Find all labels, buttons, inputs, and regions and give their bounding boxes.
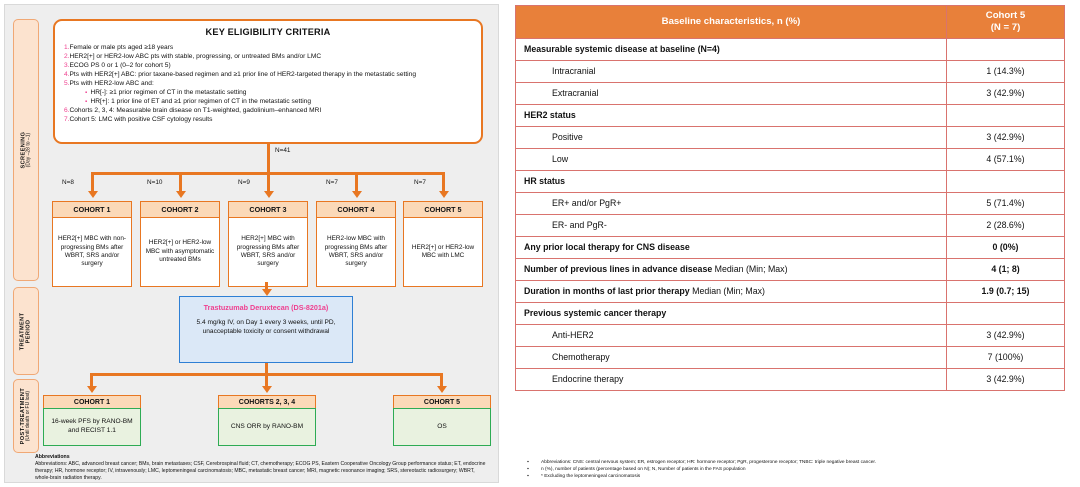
enrollment-total-label: N=41 (275, 147, 290, 154)
key-eligibility-criteria-box: KEY ELIGIBILITY CRITERIA 1.Female or mal… (53, 19, 483, 144)
header-cohort-5-line2: (N = 7) (951, 22, 1060, 34)
footnote-text: Abbreviations: CNS: central nervous syst… (541, 459, 1065, 466)
eligibility-subitem: HR[-]: ≥1 prior regimen of CT in the met… (90, 89, 246, 96)
cohort-title: COHORT 2 (140, 201, 220, 217)
eligibility-subitem: HR[+]: 1 prior line of ET and ≥1 prior r… (90, 98, 311, 105)
arrow-cohort-3 (264, 191, 274, 198)
treatment-drug-name: Trastuzumab Deruxtecan (DS-8201a) (186, 303, 346, 312)
table-row: Low4 (57.1%) (516, 148, 1065, 170)
cohort-description: HER2[+] or HER2-low MBC with asymptomati… (140, 217, 220, 287)
row-label: HER2 status (516, 104, 947, 126)
header-baseline-characteristics: Baseline characteristics, n (%) (516, 6, 947, 39)
outcome-title: COHORT 5 (393, 395, 491, 408)
eligibility-item: Cohort 5: LMC with positive CSF cytology… (70, 116, 213, 123)
cohort-title: COHORT 5 (403, 201, 483, 217)
table-row: Anti-HER23 (42.9%) (516, 324, 1065, 346)
table-row: Number of previous lines in advance dise… (516, 258, 1065, 280)
row-label: ER- and PgR- (516, 214, 947, 236)
footnote-bullet-icon: ▪ (515, 473, 541, 480)
connector-drop-cohort-5 (442, 172, 445, 192)
cohort-description: HER2[+] MBC with progressing BMs after W… (228, 217, 308, 287)
cohort-title: COHORT 3 (228, 201, 308, 217)
cohort-description: HER2-low MBC with progressing BMs after … (316, 217, 396, 287)
row-label: Anti-HER2 (516, 324, 947, 346)
cohort-title: COHORT 4 (316, 201, 396, 217)
footnote-item: ▪n (%), number of patients (percentage b… (515, 466, 1065, 473)
row-value (947, 38, 1065, 60)
arrow-treatment (262, 289, 272, 296)
cohort-n-label-4: N=7 (326, 179, 338, 186)
arrow-outcome-3 (437, 386, 447, 393)
row-value: 1.9 (0.7; 15) (947, 280, 1065, 302)
table-row: Chemotherapy7 (100%) (516, 346, 1065, 368)
outcome-description: CNS ORR by RANO-BM (218, 408, 316, 446)
cohort-box-1[interactable]: COHORT 1 HER2[+] MBC with non-progressin… (52, 201, 132, 287)
table-row: Any prior local therapy for CNS disease0… (516, 236, 1065, 258)
outcome-box-cohort-1[interactable]: COHORT 1 16-week PFS by RANO-BM and RECI… (43, 395, 141, 446)
eligibility-item: ECOG PS 0 or 1 (0–2 for cohort 5) (70, 62, 171, 69)
row-label: Duration in months of last prior therapy… (516, 280, 947, 302)
row-label-suffix: Median (Min; Max) (690, 286, 765, 296)
row-label: Number of previous lines in advance dise… (516, 258, 947, 280)
connector-elig-to-bus (267, 144, 270, 173)
cohort-box-2[interactable]: COHORT 2 HER2[+] or HER2-low MBC with as… (140, 201, 220, 287)
header-cohort-5: Cohort 5 (N = 7) (947, 6, 1065, 39)
row-value (947, 170, 1065, 192)
phase-rail-treatment: TREATMENT PERIOD (13, 287, 39, 375)
row-label: ER+ and/or PgR+ (516, 192, 947, 214)
treatment-regimen: 5.4 mg/kg IV, on Day 1 every 3 weeks, un… (186, 319, 346, 337)
outcome-description: OS (393, 408, 491, 446)
row-label: Endocrine therapy (516, 368, 947, 390)
phase-rail-post-treatment: POST-TREATMENT (Until death or FU lost) (13, 379, 39, 453)
outcome-box-cohorts-234[interactable]: COHORTS 2, 3, 4 CNS ORR by RANO-BM (218, 395, 316, 446)
arrow-cohort-1 (88, 191, 98, 198)
study-design-diagram: SCREENING (Day –28 to –1) TREATMENT PERI… (4, 4, 499, 483)
row-value: 7 (100%) (947, 346, 1065, 368)
abbreviations-heading: Abbreviations (35, 454, 490, 460)
table-row: Previous systemic cancer therapy (516, 302, 1065, 324)
table-row: Extracranial3 (42.9%) (516, 82, 1065, 104)
connector-drop-cohort-4 (355, 172, 358, 192)
eligibility-item: HER2[+] or HER2-low ABC pts with stable,… (70, 53, 322, 60)
row-label: Positive (516, 126, 947, 148)
table-row: Intracranial1 (14.3%) (516, 60, 1065, 82)
table-row: Measurable systemic disease at baseline … (516, 38, 1065, 60)
row-label: Any prior local therapy for CNS disease (516, 236, 947, 258)
cohort-title: COHORT 1 (52, 201, 132, 217)
abbreviations-text: Abbreviations: ABC, advanced breast canc… (35, 461, 490, 483)
row-value: 0 (0%) (947, 236, 1065, 258)
table-row: HR status (516, 170, 1065, 192)
row-label: Measurable systemic disease at baseline … (516, 38, 947, 60)
eligibility-item: Female or male pts aged ≥18 years (70, 44, 174, 51)
cohort-n-label-2: N=10 (147, 179, 162, 186)
cohort-box-5[interactable]: COHORT 5 HER2[+] or HER2-low MBC with LM… (403, 201, 483, 287)
footnote-text: * Excluding the leptomeningeal carcinoma… (541, 473, 1065, 480)
baseline-characteristics-table-wrap: Baseline characteristics, n (%) Cohort 5… (515, 5, 1065, 391)
connector-drop-outcome-1 (90, 373, 93, 387)
table-row: HER2 status (516, 104, 1065, 126)
cohort-description: HER2[+] MBC with non-progressing BMs aft… (52, 217, 132, 287)
slide-root: SCREENING (Day –28 to –1) TREATMENT PERI… (0, 0, 1080, 487)
connector-drop-cohort-1 (91, 172, 94, 192)
connector-drop-outcome-3 (440, 373, 443, 387)
cohort-n-label-1: N=8 (62, 179, 74, 186)
header-cohort-5-line1: Cohort 5 (951, 10, 1060, 22)
row-value: 5 (71.4%) (947, 192, 1065, 214)
footnote-item: ▪* Excluding the leptomeningeal carcinom… (515, 473, 1065, 480)
footnote-bullet-icon: ▪ (515, 459, 541, 466)
row-label: Intracranial (516, 60, 947, 82)
table-row: Duration in months of last prior therapy… (516, 280, 1065, 302)
cohort-box-3[interactable]: COHORT 3 HER2[+] MBC with progressing BM… (228, 201, 308, 287)
arrow-cohort-4 (352, 191, 362, 198)
eligibility-item: Pts with HER2[+] ABC: prior taxane-based… (70, 71, 416, 78)
arrow-cohort-5 (439, 191, 449, 198)
treatment-box[interactable]: Trastuzumab Deruxtecan (DS-8201a) 5.4 mg… (179, 296, 353, 363)
table-row: Endocrine therapy3 (42.9%) (516, 368, 1065, 390)
phase-sublabel-post-treatment: (Until death or FU lost) (26, 388, 32, 444)
outcome-box-cohort-5[interactable]: COHORT 5 OS (393, 395, 491, 446)
outcome-title: COHORT 1 (43, 395, 141, 408)
cohort-n-label-5: N=7 (414, 179, 426, 186)
row-value: 1 (14.3%) (947, 60, 1065, 82)
row-label: Chemotherapy (516, 346, 947, 368)
row-value (947, 302, 1065, 324)
connector-drop-outcome-2 (265, 373, 268, 387)
phase-sublabel-treatment: PERIOD (26, 312, 32, 350)
phase-rail-screening: SCREENING (Day –28 to –1) (13, 19, 39, 281)
row-label-suffix: Median (Min; Max) (712, 264, 787, 274)
row-value: 3 (42.9%) (947, 126, 1065, 148)
table-row: Positive3 (42.9%) (516, 126, 1065, 148)
connector-drop-cohort-3 (267, 172, 270, 192)
table-row: ER+ and/or PgR+5 (71.4%) (516, 192, 1065, 214)
arrow-outcome-2 (262, 386, 272, 393)
cohort-description: HER2[+] or HER2-low MBC with LMC (403, 217, 483, 287)
baseline-characteristics-table: Baseline characteristics, n (%) Cohort 5… (515, 5, 1065, 391)
row-value: 4 (57.1%) (947, 148, 1065, 170)
diagram-abbreviations: Abbreviations Abbreviations: ABC, advanc… (35, 454, 490, 483)
cohort-n-label-3: N=9 (238, 179, 250, 186)
footnote-bullet-icon: ▪ (515, 466, 541, 473)
eligibility-item: Cohorts 2, 3, 4: Measurable brain diseas… (70, 107, 322, 114)
arrow-outcome-1 (87, 386, 97, 393)
eligibility-list: 1.Female or male pts aged ≥18 years 2.HE… (64, 44, 472, 125)
footnote-item: ▪Abbreviations: CNS: central nervous sys… (515, 459, 1065, 466)
connector-drop-cohort-2 (179, 172, 182, 192)
eligibility-item: Pts with HER2-low ABC and: (70, 80, 154, 87)
table-row: ER- and PgR-2 (28.6%) (516, 214, 1065, 236)
cohort-box-4[interactable]: COHORT 4 HER2-low MBC with progressing B… (316, 201, 396, 287)
row-label: Low (516, 148, 947, 170)
table-body: Measurable systemic disease at baseline … (516, 38, 1065, 390)
table-header-row: Baseline characteristics, n (%) Cohort 5… (516, 6, 1065, 39)
phase-sublabel-screening: (Day –28 to –1) (26, 132, 32, 169)
arrow-cohort-2 (176, 191, 186, 198)
table-footnotes: ▪Abbreviations: CNS: central nervous sys… (515, 459, 1065, 481)
row-label: Previous systemic cancer therapy (516, 302, 947, 324)
row-value: 4 (1; 8) (947, 258, 1065, 280)
outcome-description: 16-week PFS by RANO-BM and RECIST 1.1 (43, 408, 141, 446)
row-value: 3 (42.9%) (947, 368, 1065, 390)
row-label: HR status (516, 170, 947, 192)
outcome-title: COHORTS 2, 3, 4 (218, 395, 316, 408)
row-value: 3 (42.9%) (947, 82, 1065, 104)
footnote-text: n (%), number of patients (percentage ba… (541, 466, 1065, 473)
row-value: 3 (42.9%) (947, 324, 1065, 346)
row-value (947, 104, 1065, 126)
eligibility-title: KEY ELIGIBILITY CRITERIA (64, 27, 472, 37)
row-label: Extracranial (516, 82, 947, 104)
row-value: 2 (28.6%) (947, 214, 1065, 236)
